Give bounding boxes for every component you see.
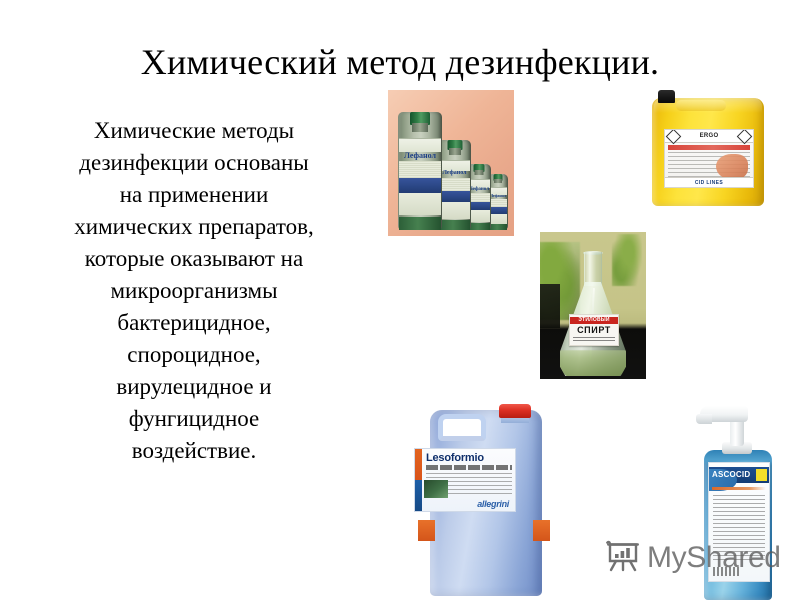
photo-pump-bottle: ASCOCID xyxy=(678,398,790,600)
canister-cap xyxy=(499,404,531,418)
body-line: микроорганизмы xyxy=(34,275,354,307)
flask-liquid xyxy=(560,346,626,376)
flask-label-main-text: СПИРТ xyxy=(570,325,618,336)
pump-stem xyxy=(730,418,744,446)
bottle-base xyxy=(489,224,507,230)
bottle-label-texture xyxy=(399,161,441,178)
bottle-base xyxy=(439,220,470,230)
hazard-pictogram-icon xyxy=(737,129,753,144)
label-footer-text: CID LINES xyxy=(695,180,723,186)
body-line: бактерицидное, xyxy=(34,307,354,339)
body-line: Химические методы xyxy=(34,115,354,147)
presentation-board-icon xyxy=(606,540,640,577)
hazard-pictogram-icon xyxy=(666,129,682,144)
bottle-neck xyxy=(475,170,484,175)
bottle-label-bottom xyxy=(439,202,470,219)
label-footer: CID LINES xyxy=(665,177,753,187)
canister-label: ERGO CID LINES xyxy=(664,129,754,188)
bottle-label-texture xyxy=(439,178,470,191)
bottle-label-bottom xyxy=(489,214,507,224)
label-brand: allegrini xyxy=(477,499,509,509)
bottle-label: ASCOCID xyxy=(708,462,770,582)
bottle-label-band xyxy=(468,202,490,210)
flask-glass: ЭТИЛОВЫЙ СПИРТ xyxy=(560,252,626,376)
label-tag xyxy=(756,469,767,481)
bottle-neck xyxy=(494,179,502,183)
slide: Химический метод дезинфекции. Химические… xyxy=(0,0,800,600)
bottle-label-texture xyxy=(489,199,507,207)
bottle-label-band xyxy=(439,191,470,202)
bottle-base xyxy=(399,217,441,230)
green-bottle: Лефанол xyxy=(488,174,508,230)
body-line: фунгицидное xyxy=(34,403,354,435)
label-header: ERGO xyxy=(665,130,753,143)
label-product-name: Lesoformio xyxy=(426,452,484,465)
pump-spout xyxy=(696,414,712,424)
label-product-name: ASCOCID xyxy=(712,470,755,480)
photo-blue-canister: Lesoformio allegrini xyxy=(408,396,562,600)
bottle-label-bottom xyxy=(399,193,441,215)
body-line: которые оказывают на xyxy=(34,243,354,275)
label-color-chip xyxy=(533,520,550,541)
body-line: на применении xyxy=(34,179,354,211)
bottle-label-texture xyxy=(468,193,490,202)
canister-cap xyxy=(658,90,675,103)
dark-object xyxy=(540,284,560,328)
flask-neck xyxy=(584,252,602,286)
canister-handle xyxy=(438,414,486,441)
body-line: спороцидное, xyxy=(34,339,354,371)
green-bottle: Лефанол xyxy=(438,140,471,230)
canister-handle xyxy=(676,100,726,111)
bottle-label-bottom xyxy=(468,210,490,222)
label-accent-stripe xyxy=(415,449,422,511)
body-line: дезинфекции основаны xyxy=(34,147,354,179)
bottle-neck xyxy=(449,148,461,155)
label-brand: ERGO xyxy=(700,133,719,139)
body-line: химических препаратов, xyxy=(34,211,354,243)
bottle-label-name: Лефанол xyxy=(468,186,490,193)
label-rule xyxy=(712,487,766,490)
label-color-chip xyxy=(418,520,435,541)
photo-flask: ЭТИЛОВЫЙ СПИРТ xyxy=(540,232,646,379)
body-text: Химические методы дезинфекции основаны н… xyxy=(34,115,354,467)
photo-yellow-canister: ERGO CID LINES xyxy=(640,88,780,212)
body-line: воздействие. xyxy=(34,435,354,467)
body-line: вирулецидное и xyxy=(34,371,354,403)
bottle-neck xyxy=(412,123,428,132)
label-subtitle-line xyxy=(426,465,512,470)
label-illustration xyxy=(424,480,448,498)
bottle-label-band xyxy=(489,207,507,214)
flask-label: ЭТИЛОВЫЙ СПИРТ xyxy=(569,314,619,346)
page-title: Химический метод дезинфекции. xyxy=(0,40,800,84)
green-bottle: Лефанол xyxy=(398,112,442,230)
label-body-text xyxy=(713,495,765,563)
label-subtitle-bar xyxy=(668,145,750,150)
bottle-label-band xyxy=(399,178,441,193)
bottle-base xyxy=(468,223,490,230)
label-footer-code xyxy=(713,567,739,576)
photo-green-bottles: Лефанол Лефанол Лефанол xyxy=(388,90,514,236)
canister-label: Lesoformio allegrini xyxy=(414,448,516,512)
flask-label-fine-print xyxy=(573,337,615,343)
bottle-label-name: Лефанол xyxy=(439,169,470,178)
flask-label-top-text: ЭТИЛОВЫЙ xyxy=(570,317,618,324)
bottle-label-name: Лефанол xyxy=(399,150,441,161)
